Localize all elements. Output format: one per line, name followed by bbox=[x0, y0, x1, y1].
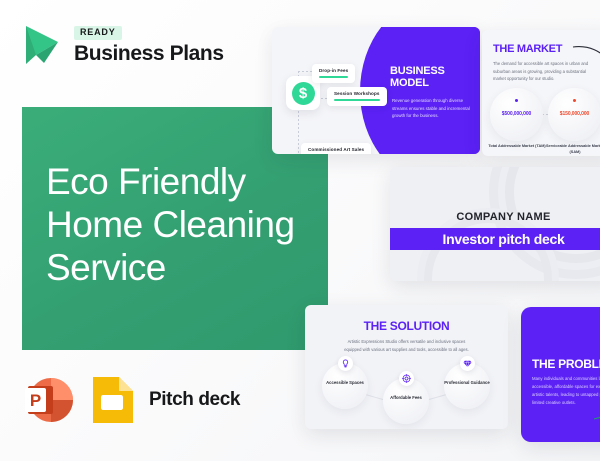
metric-amount: $150,000,000 bbox=[548, 111, 600, 117]
business-model-item-label: Session Workshops bbox=[334, 91, 380, 96]
brand-lockup: READY Business Plans bbox=[20, 22, 224, 68]
metric-circle-sam: $150,000,000 Serviceable Addressable Mar… bbox=[548, 88, 600, 141]
format-badges: P Pitch deck bbox=[23, 374, 240, 426]
metric-caption: Total Addressable Market (TAM) bbox=[486, 144, 548, 150]
slide-the-problem[interactable]: THE PROBLEM Many individuals and communi… bbox=[521, 307, 600, 442]
hero-title: Eco Friendly Home Cleaning Service bbox=[46, 161, 346, 290]
slide-title-solution: THE SOLUTION bbox=[305, 319, 508, 333]
business-model-item-label: Commissioned Art Sales bbox=[308, 147, 364, 152]
slide-title-market: THE MARKET bbox=[493, 43, 562, 55]
connector-line-top bbox=[298, 71, 313, 72]
solution-item-accessible-spaces: Accessible Spaces bbox=[322, 363, 368, 409]
lightbulb-icon bbox=[338, 356, 353, 371]
curved-arrow-icon bbox=[593, 406, 600, 427]
solution-item-affordable-fees: Affordable Fees bbox=[383, 378, 429, 424]
dollar-sign-icon: $ bbox=[292, 82, 315, 105]
target-icon bbox=[399, 371, 414, 386]
company-name: COMPANY NAME bbox=[390, 211, 600, 223]
business-model-item: Drop-in Fees bbox=[312, 64, 355, 83]
brand-text: READY Business Plans bbox=[74, 26, 224, 64]
underline-accent bbox=[319, 76, 348, 78]
slide-body-business-model: Revenue generation through diverse strea… bbox=[392, 97, 472, 120]
cover-subtitle: Investor pitch deck bbox=[443, 231, 565, 247]
brand-title: Business Plans bbox=[74, 43, 224, 64]
slide-business-model[interactable]: $ Drop-in Fees Session Workshops Commiss… bbox=[272, 27, 480, 154]
metric-caption: Serviceable Addressable Market (SAM) bbox=[544, 144, 600, 155]
cover-subtitle-band: Investor pitch deck bbox=[390, 228, 600, 250]
ready-business-plans-logo-icon bbox=[20, 22, 64, 68]
underline-accent bbox=[334, 99, 380, 101]
metric-amount: $500,000,000 bbox=[490, 111, 543, 117]
promo-banner: READY Business Plans Eco Friendly Home C… bbox=[0, 0, 600, 461]
google-slides-icon[interactable] bbox=[89, 375, 135, 425]
slide-body-problem: Many individuals and communities lack ac… bbox=[532, 375, 600, 407]
slide-the-solution[interactable]: THE SOLUTION Artistic Expressions Studio… bbox=[305, 305, 508, 429]
metric-dot-icon bbox=[573, 99, 576, 102]
purple-panel-shape bbox=[388, 27, 480, 154]
slide-cover[interactable]: COMPANY NAME Investor pitch deck bbox=[390, 167, 600, 281]
solution-item-label: Accessible Spaces bbox=[322, 380, 368, 387]
business-model-item: Commissioned Art Sales bbox=[301, 143, 371, 154]
solution-item-label: Professional Guidance bbox=[444, 380, 490, 387]
slide-title-business-model: BUSINESS MODEL bbox=[390, 65, 472, 90]
powerpoint-icon[interactable]: P bbox=[23, 374, 75, 426]
ready-badge: READY bbox=[74, 26, 122, 40]
svg-text:P: P bbox=[30, 391, 41, 410]
metric-circle-tam: $500,000,000 Total Addressable Market (T… bbox=[490, 88, 543, 141]
solution-item-professional-guidance: Professional Guidance bbox=[444, 363, 490, 409]
slide-title-problem: THE PROBLEM bbox=[532, 357, 600, 371]
business-model-item-label: Drop-in Fees bbox=[319, 68, 348, 73]
format-label: Pitch deck bbox=[149, 389, 240, 411]
slide-body-solution: Artistic Expressions Studio offers versa… bbox=[341, 338, 472, 354]
metric-dot-icon bbox=[515, 99, 518, 102]
slide-body-market: The demand for accessible art spaces in … bbox=[493, 60, 597, 83]
slide-the-market[interactable]: THE MARKET The demand for accessible art… bbox=[482, 30, 600, 156]
diamond-icon bbox=[460, 356, 475, 371]
business-model-item: Session Workshops bbox=[327, 87, 387, 106]
solution-item-label: Affordable Fees bbox=[383, 395, 429, 402]
